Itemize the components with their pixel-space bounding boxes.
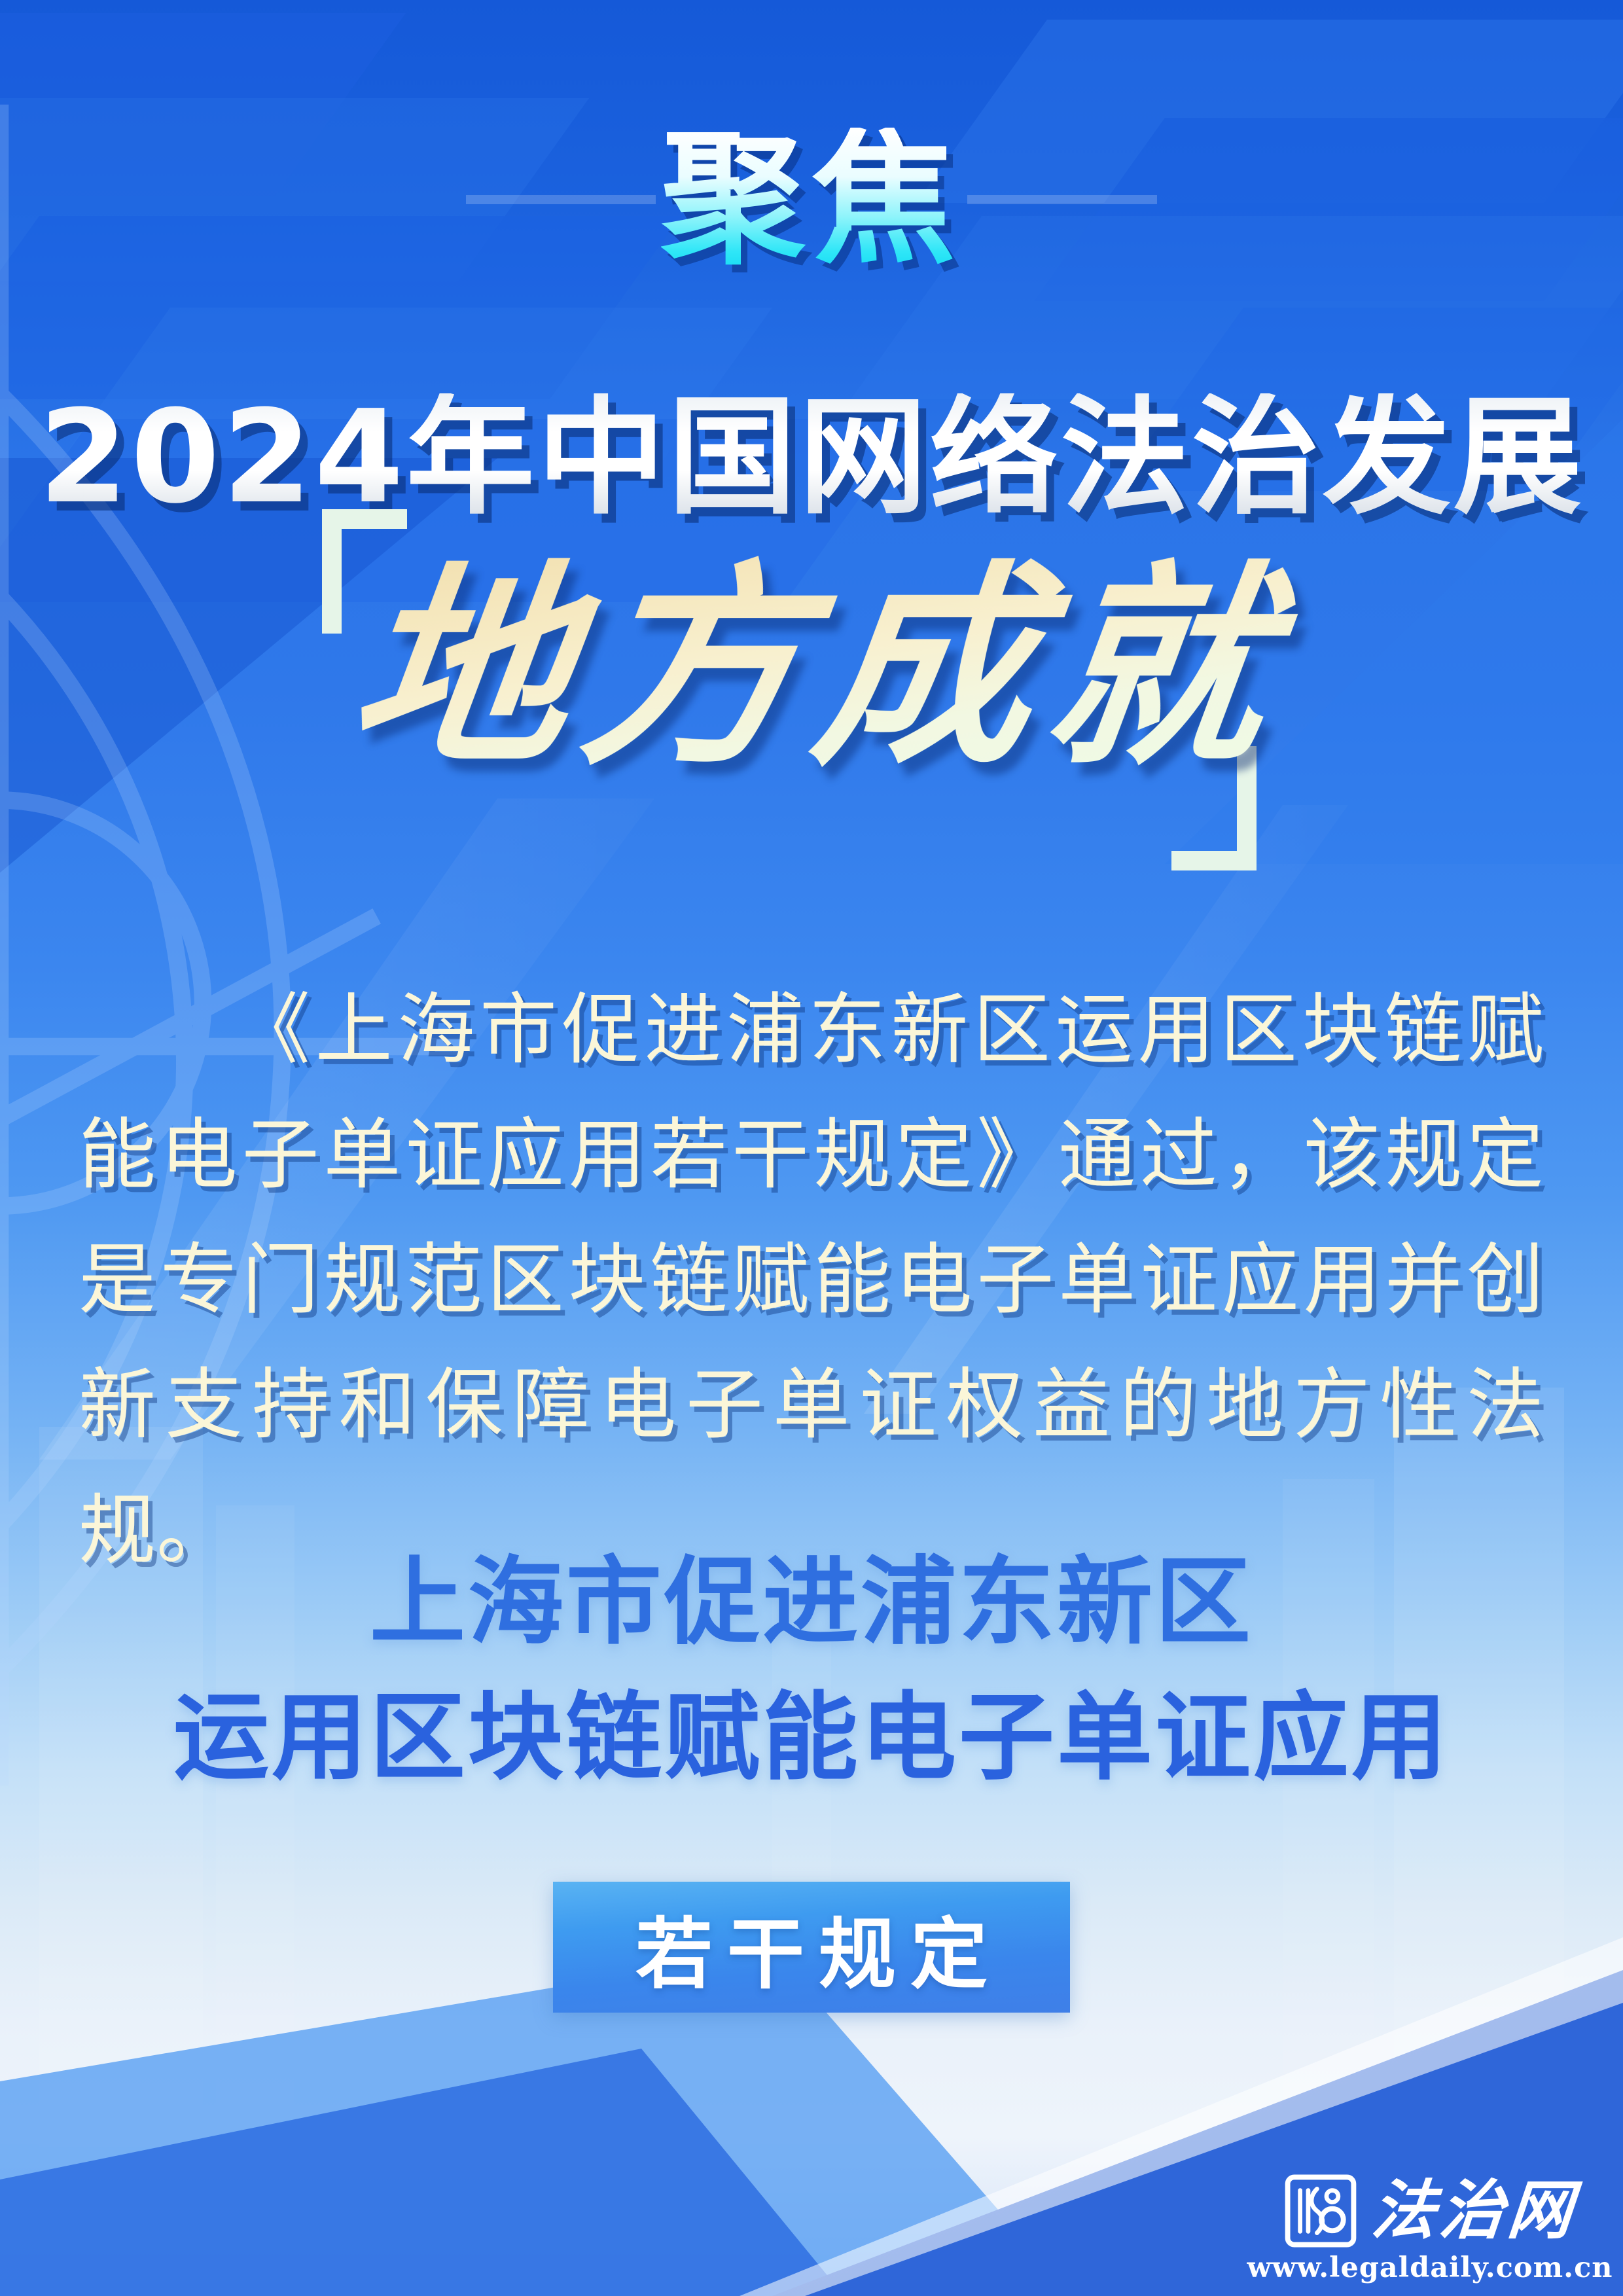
eyebrow-label: 聚焦 <box>661 128 962 272</box>
lower-headline-line-1: 上海市促进浦东新区 <box>0 1535 1623 1670</box>
footer-logo[interactable]: 法治网 www.legaldaily.com.cn <box>1276 2172 1584 2284</box>
poster-root: 聚焦 2024年中国网络法治发展 地方成就 《上海市促进浦东新区运用区块链赋能电… <box>0 0 1623 2296</box>
calligraphy-block: 地方成就 <box>308 497 1329 890</box>
regulation-badge: 若干规定 <box>553 1882 1070 2013</box>
lower-headline: 上海市促进浦东新区 运用区块链赋能电子单证应用 <box>0 1535 1623 1806</box>
seal-square-icon <box>1284 2174 1357 2248</box>
footer-url[interactable]: www.legaldaily.com.cn <box>1247 2251 1613 2284</box>
body-paragraph: 《上海市促进浦东新区运用区块链赋能电子单证应用若干规定》通过，该规定是专门规范区… <box>79 967 1544 1593</box>
footer-brand-name: 法治网 <box>1369 2179 1579 2243</box>
eyebrow-rule-right <box>967 195 1157 204</box>
eyebrow-rule-left <box>466 195 656 204</box>
lower-headline-line-2: 运用区块链赋能电子单证应用 <box>0 1670 1623 1806</box>
calligraphy-headline: 地方成就 <box>293 543 1344 792</box>
regulation-badge-label: 若干规定 <box>621 1892 1002 2003</box>
footer-logo-row: 法治网 <box>1284 2172 1576 2250</box>
eyebrow-block: 聚焦 <box>0 124 1623 275</box>
